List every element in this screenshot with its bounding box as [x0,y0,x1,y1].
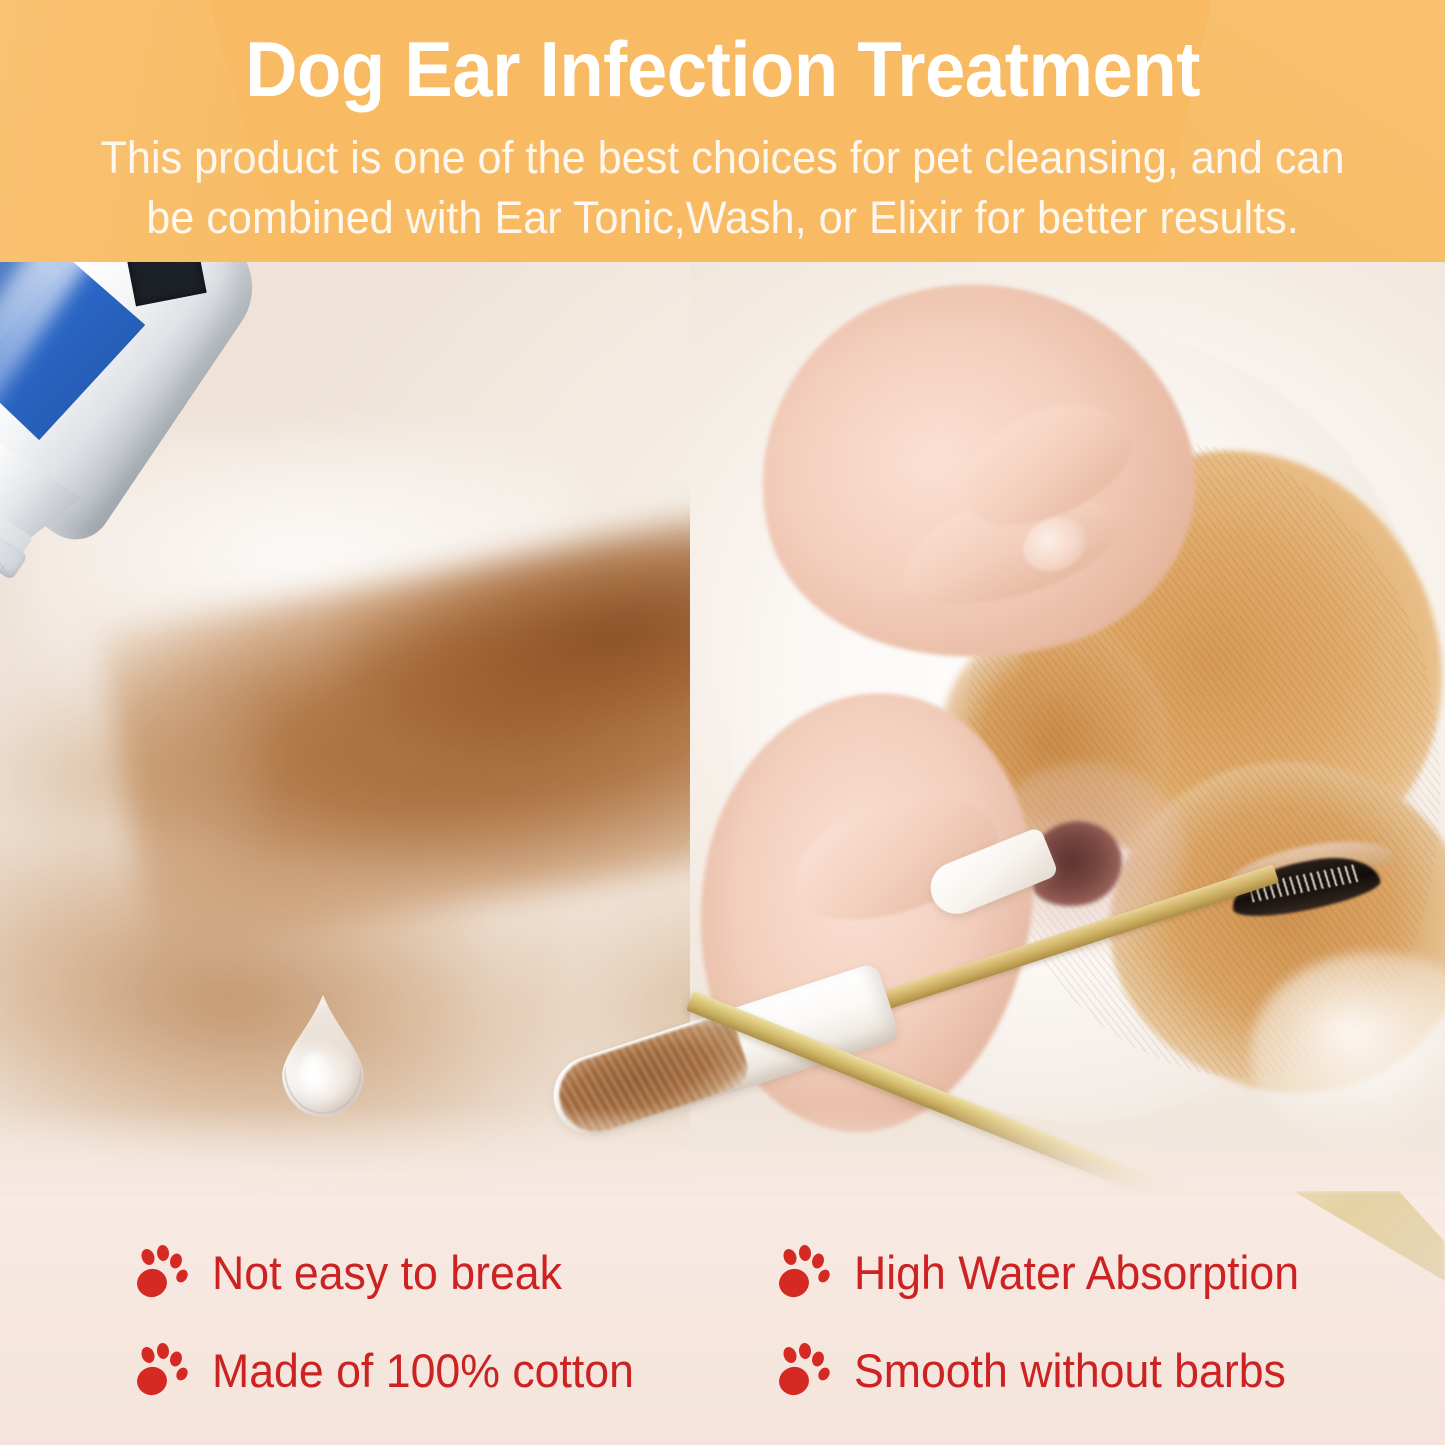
feature-label: Made of 100% cotton [212,1343,634,1399]
product-photo: Recycler [0,262,1445,1197]
feature-list-band: Not easy to break High Water Absorpt [0,1197,1445,1445]
feature-item-made-of-cotton: Made of 100% cotton [136,1343,656,1399]
feature-item-high-water-absorption: High Water Absorption [778,1245,1323,1301]
paw-print-icon [778,1245,832,1301]
page-title: Dog Ear Infection Treatment [51,26,1395,112]
feature-label: Smooth without barbs [854,1343,1286,1399]
header-banner: Dog Ear Infection Treatment This product… [0,0,1445,262]
feature-item-not-easy-to-break: Not easy to break [136,1245,580,1301]
paw-print-icon [778,1343,832,1399]
page-subtitle: This product is one of the best choices … [87,128,1359,248]
paw-print-icon [136,1245,190,1301]
feature-item-smooth-without-barbs: Smooth without barbs [778,1343,1309,1399]
feature-label: High Water Absorption [854,1245,1299,1301]
paw-print-icon [136,1343,190,1399]
feature-label: Not easy to break [212,1245,562,1301]
liquid-droplet-highlight [300,1052,330,1094]
photo-bottom-fade [0,1107,1445,1197]
product-marketing-image: Dog Ear Infection Treatment This product… [0,0,1445,1445]
feature-grid: Not easy to break High Water Absorpt [0,1197,1445,1445]
